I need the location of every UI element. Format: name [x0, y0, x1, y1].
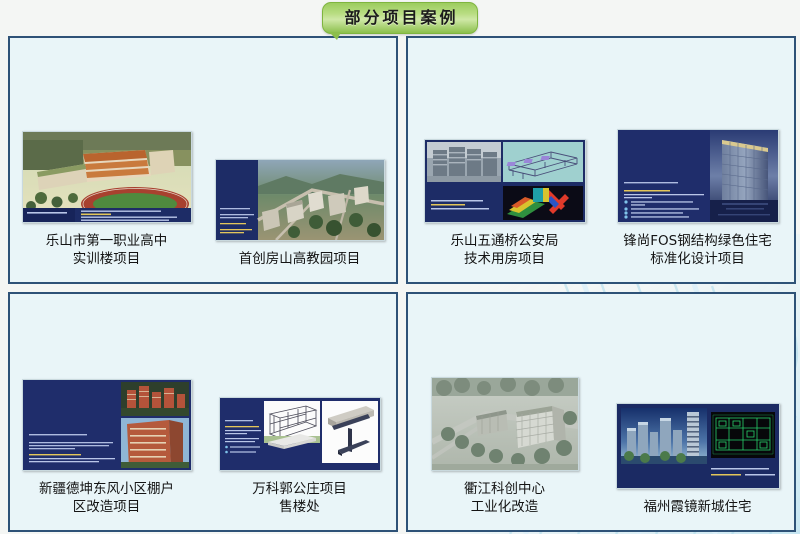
thumbnail-aerial-office-campus — [431, 377, 579, 471]
thumbnail-towers-with-cad-plan — [616, 403, 780, 489]
project-card-leshan-wutongqiao-police[interactable]: 乐山五通桥公安局 技术用房项目 — [415, 139, 595, 268]
title-banner-container: 部分项目案例 — [0, 2, 800, 36]
project-card-fengshang-fos-steel-green-housing[interactable]: 锋尚FOS钢结构绿色住宅 标准化设计项目 — [608, 129, 788, 268]
project-card-leshan-vocational-school[interactable]: 乐山市第一职业高中 实训楼项目 — [17, 131, 197, 268]
project-caption: 福州霞镜新城住宅 — [644, 498, 752, 516]
banner-notch-icon — [329, 32, 341, 40]
panel-bottom-right: 衢江科创中心 工业化改造 — [406, 292, 796, 532]
project-caption: 锋尚FOS钢结构绿色住宅 标准化设计项目 — [623, 232, 771, 268]
thumbnail-steel-frame-beam — [219, 397, 381, 471]
thumbnail-aerial-university-park — [215, 159, 385, 241]
panel-bottom-left: 新疆德坤东风小区棚户 区改造项目 — [8, 292, 398, 532]
panel-top-right: 乐山五通桥公安局 技术用房项目 — [406, 36, 796, 284]
panel-top-left: 乐山市第一职业高中 实训楼项目 — [8, 36, 398, 284]
project-caption: 乐山五通桥公安局 技术用房项目 — [451, 232, 559, 268]
project-card-fuzhou-xiajing-new-town-residence[interactable]: 福州霞镜新城住宅 — [608, 403, 788, 516]
project-card-shoucheng-fangshan-university-park[interactable]: 首创房山高教园项目 — [210, 159, 390, 268]
project-card-xinjiang-dekun-dongfeng-shantytown[interactable]: 新疆德坤东风小区棚户 区改造项目 — [17, 379, 197, 516]
project-card-qujiang-sci-tech-innovation-center[interactable]: 衢江科创中心 工业化改造 — [415, 377, 595, 516]
thumbnail-glass-tower-spec — [617, 129, 779, 223]
thumbnail-red-brick-residential — [22, 379, 192, 471]
project-grid: 乐山市第一职业高中 实训楼项目 — [0, 0, 800, 534]
thumbnail-aerial-school-campus — [22, 131, 192, 223]
thumbnail-police-building-composite — [424, 139, 586, 223]
project-card-vanke-guogongzhuang-sales-office[interactable]: 万科郭公庄项目 售楼处 — [210, 397, 390, 516]
project-caption: 首创房山高教园项目 — [239, 250, 361, 268]
project-caption: 新疆德坤东风小区棚户 区改造项目 — [39, 480, 174, 516]
project-caption: 衢江科创中心 工业化改造 — [464, 480, 545, 516]
page-title: 部分项目案例 — [341, 10, 458, 26]
project-caption: 万科郭公庄项目 售楼处 — [252, 480, 347, 516]
project-caption: 乐山市第一职业高中 实训楼项目 — [46, 232, 168, 268]
title-banner: 部分项目案例 — [322, 2, 478, 34]
